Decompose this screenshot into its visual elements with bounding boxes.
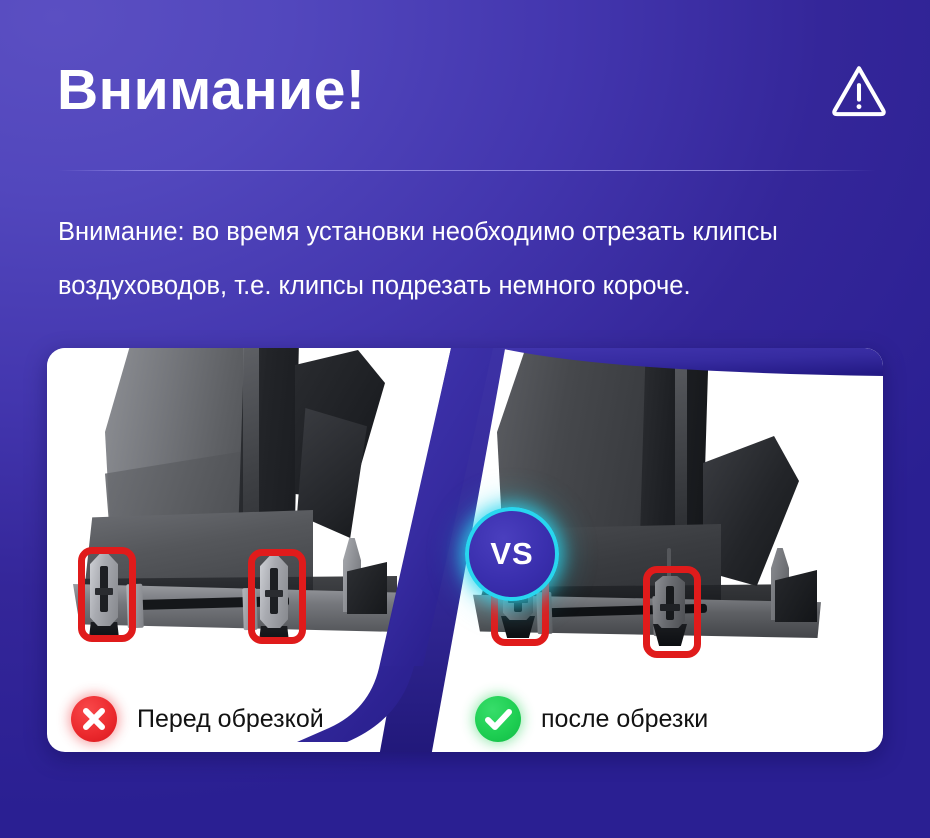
comparison-labels: Перед обрезкой после обрезки bbox=[47, 688, 883, 752]
warning-paragraph: Внимание: во время установки необходимо … bbox=[58, 205, 888, 313]
after-label-group: после обрезки bbox=[475, 696, 708, 742]
vs-label: VS bbox=[490, 536, 533, 572]
header-divider bbox=[58, 170, 876, 171]
after-label: после обрезки bbox=[541, 705, 708, 734]
warning-line-2: воздуховодов, т.е. клипсы подрезать немн… bbox=[58, 259, 888, 313]
warning-triangle-icon bbox=[830, 62, 888, 118]
before-photo-panel bbox=[47, 348, 477, 688]
highlight-box-clip-2 bbox=[643, 566, 701, 658]
page-title: Внимание! bbox=[57, 57, 365, 123]
infographic-screen: Внимание! Внимание: во время установки н… bbox=[0, 0, 930, 838]
vs-badge: VS bbox=[465, 507, 559, 601]
before-label-group: Перед обрезкой bbox=[71, 696, 324, 742]
header: Внимание! bbox=[0, 0, 930, 172]
check-circle-icon bbox=[475, 696, 521, 742]
warning-line-1: Внимание: во время установки необходимо … bbox=[58, 205, 888, 259]
highlight-box-clip-1 bbox=[78, 547, 136, 642]
cross-circle-icon bbox=[71, 696, 117, 742]
before-part-photo bbox=[47, 348, 477, 688]
before-label: Перед обрезкой bbox=[137, 705, 324, 734]
comparison-card: VS Перед обрезкой после обрезки bbox=[47, 348, 883, 752]
highlight-box-clip-2 bbox=[248, 549, 306, 644]
